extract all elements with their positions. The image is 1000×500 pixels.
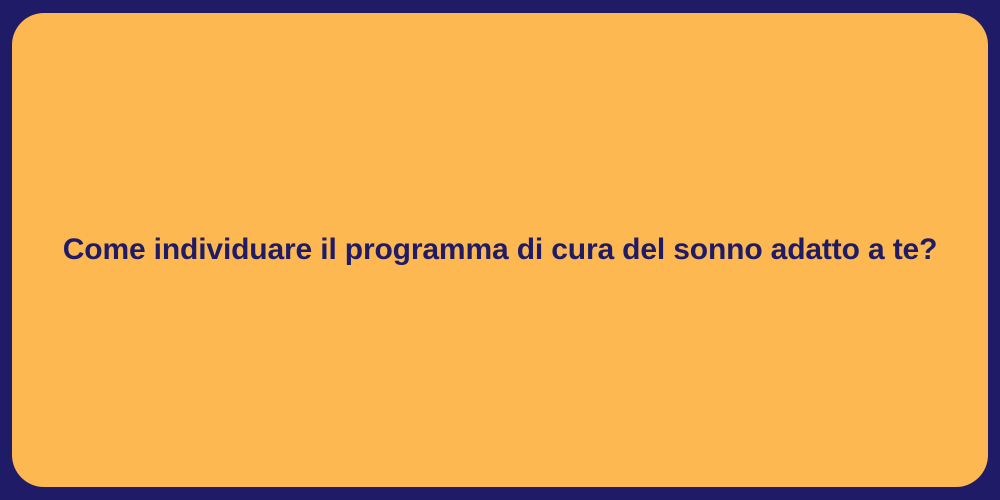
banner-frame: Come individuare il programma di cura de… — [0, 0, 1000, 500]
banner-heading: Come individuare il programma di cura de… — [63, 231, 938, 269]
banner-panel: Come individuare il programma di cura de… — [12, 13, 988, 487]
